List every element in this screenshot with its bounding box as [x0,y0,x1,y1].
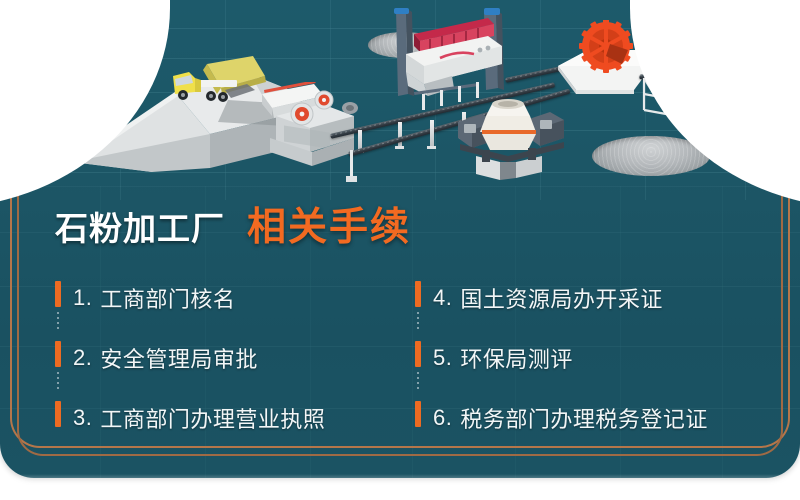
production-line-illustration [0,0,800,192]
poster-root: 石粉加工厂 相关手续 1. 工商部门核名 2. 安全管理局审批 [0,0,800,500]
support-stand [336,150,370,184]
title-highlight: 相关手续 [247,196,411,252]
list-item-number: 4. [433,285,452,311]
bullet-marker-icon [55,341,61,367]
list-item[interactable]: 3. 工商部门办理营业执照 [55,388,415,448]
list-item-label: 安全管理局审批 [100,342,258,374]
list-item-label: 环保局测评 [460,342,573,374]
list-item[interactable]: 2. 安全管理局审批 [55,328,415,388]
procedure-lists: 1. 工商部门核名 2. 安全管理局审批 3. 工商部门办理营业执照 [0,268,800,448]
list-item-label: 国土资源局办开采证 [460,282,663,314]
list-item-label: 税务部门办理税务登记证 [460,402,708,434]
conveyor-foot [395,146,404,149]
list-item[interactable]: 4. 国土资源局办开采证 [415,268,775,328]
cone-crusher [452,88,570,180]
poster-title: 石粉加工厂 相关手续 [55,196,411,252]
list-item-number: 3. [73,405,92,431]
list-item[interactable]: 1. 工商部门核名 [55,268,415,328]
list-item-label: 工商部门核名 [100,282,235,314]
list-item-number: 6. [433,405,452,431]
procedure-column-right: 4. 国土资源局办开采证 5. 环保局测评 6. 税务部门办理税务登记证 [415,268,775,448]
conveyor-leg [398,122,402,148]
list-item-number: 2. [73,345,92,371]
conveyor-leg [430,120,434,148]
bottom-fade [0,474,800,500]
conveyor-truss [640,74,748,122]
dump-truck [165,54,270,110]
list-item[interactable]: 5. 环保局测评 [415,328,775,388]
list-item-label: 工商部门办理营业执照 [100,402,325,434]
list-item-number: 5. [433,345,452,371]
bullet-marker-icon [415,281,421,307]
list-item-number: 1. [73,285,92,311]
title-primary: 石粉加工厂 [55,202,225,250]
gravel-pile-right [592,136,710,176]
teal-panel: 石粉加工厂 相关手续 1. 工商部门核名 2. 安全管理局审批 [0,0,800,478]
bullet-marker-icon [415,401,421,427]
bullet-marker-icon [55,401,61,427]
list-item[interactable]: 6. 税务部门办理税务登记证 [415,388,775,448]
bullet-marker-icon [55,281,61,307]
procedure-column-left: 1. 工商部门核名 2. 安全管理局审批 3. 工商部门办理营业执照 [55,268,415,448]
bullet-marker-icon [415,341,421,367]
conveyor-foot [427,146,436,149]
